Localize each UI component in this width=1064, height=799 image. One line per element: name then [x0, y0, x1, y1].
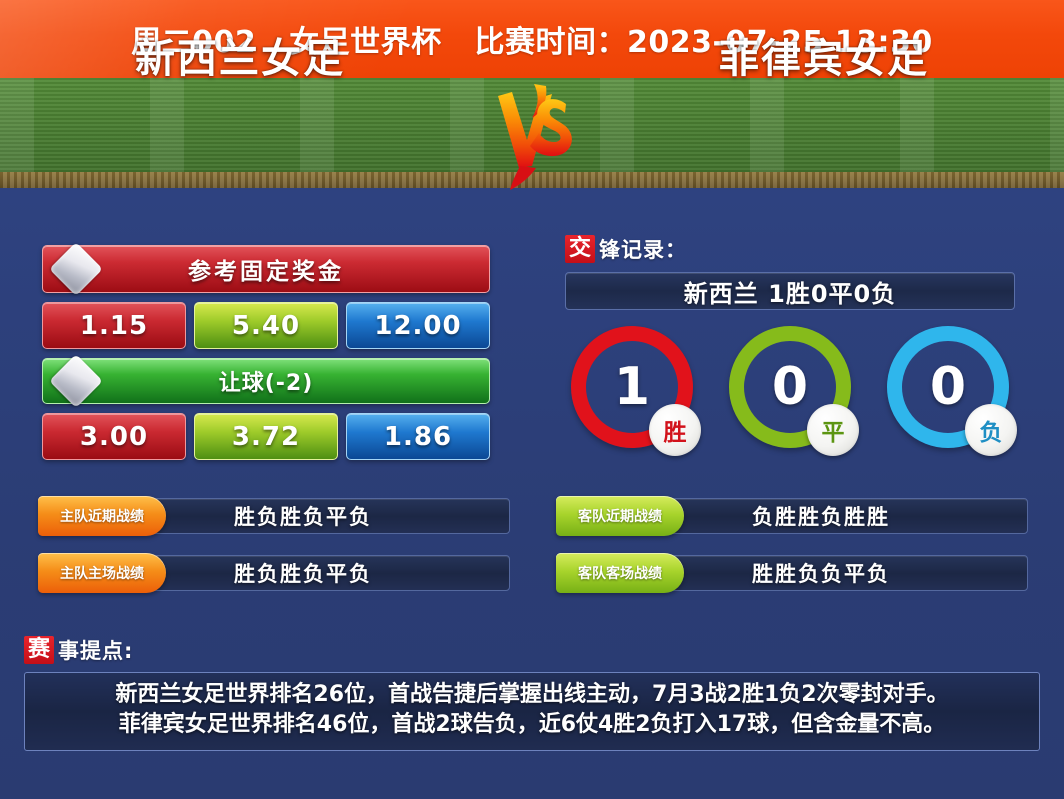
h2h-panel: 交 锋记录： 新西兰 1胜0平0负 1 胜 0 平 0 [565, 234, 1015, 448]
home-recent-tag-label: 主队近期战绩 [60, 506, 144, 526]
home-team-name: 新西兰女足 [0, 0, 480, 110]
form-row-away-venue: 胜胜负负平负 客队客场战绩 [556, 553, 1028, 593]
h2h-rings: 1 胜 0 平 0 负 [565, 326, 1015, 448]
away-recent-tag: 客队近期战绩 [556, 496, 684, 536]
away-recent-tag-label: 客队近期战绩 [578, 506, 662, 526]
handicap-prefix: 让球( [219, 371, 276, 396]
vs-icon [482, 78, 586, 193]
h2h-section-label: 交 锋记录： [565, 234, 1015, 264]
handicap-odd-draw[interactable]: 3.72 [194, 413, 338, 460]
fixed-odd-win[interactable]: 1.15 [42, 302, 186, 349]
analysis-section: 赛 事提点: 新西兰女足世界排名26位，首战告捷后掌握出线主动，7月3战2胜1负… [24, 634, 1040, 751]
ring-badge-label: 负 [965, 404, 1017, 456]
handicap-suffix: ) [302, 371, 313, 396]
handicap-bar: 让球(-2) [42, 358, 490, 404]
analysis-line-1: 新西兰女足世界排名26位，首战告捷后掌握出线主动，7月3战2胜1负2次零封对手。 [35, 680, 1029, 710]
fixed-odds-row: 1.15 5.40 12.00 [42, 302, 490, 349]
away-form-column: 负胜胜负胜胜 客队近期战绩 胜胜负负平负 客队客场战绩 [556, 496, 1028, 610]
analysis-label-badge: 赛 [24, 636, 54, 663]
analysis-line-2: 菲律宾女足世界排名46位，首战2球告负，近6仗4胜2负打入17球，但含金量不高。 [35, 710, 1029, 740]
odds-title-text: 参考固定奖金 [188, 252, 344, 286]
analysis-label-text: 事提点: [58, 635, 133, 665]
form-row-home-venue: 胜负胜负平负 主队主场战绩 [38, 553, 510, 593]
home-venue-tag-label: 主队主场战绩 [60, 563, 144, 583]
home-venue-value: 胜负胜负平负 [234, 558, 372, 588]
away-venue-tag: 客队客场战绩 [556, 553, 684, 593]
away-team-name: 菲律宾女足 [584, 0, 1064, 110]
form-row-home-recent: 胜负胜负平负 主队近期战绩 [38, 496, 510, 536]
away-recent-value: 负胜胜负胜胜 [752, 501, 890, 531]
analysis-text-box: 新西兰女足世界排名26位，首战告捷后掌握出线主动，7月3战2胜1负2次零封对手。… [24, 672, 1040, 751]
content-body: 参考固定奖金 1.15 5.40 12.00 让球(-2) 3.00 3.72 … [0, 188, 1064, 799]
h2h-ring-win: 1 胜 [571, 326, 693, 448]
h2h-ring-draw: 0 平 [729, 326, 851, 448]
home-recent-tag: 主队近期战绩 [38, 496, 166, 536]
h2h-summary-bar: 新西兰 1胜0平0负 [565, 272, 1015, 310]
match-preview-graphic: 周二002 女足世界杯 比赛时间：2023-07-25 13:30 新西兰女足 … [0, 0, 1064, 799]
handicap-value: -2 [276, 371, 302, 396]
away-venue-value: 胜胜负负平负 [752, 558, 890, 588]
h2h-label-text: 锋记录： [599, 234, 687, 264]
h2h-summary-text: 新西兰 1胜0平0负 [684, 274, 896, 309]
home-venue-tag: 主队主场战绩 [38, 553, 166, 593]
h2h-label-badge: 交 [565, 235, 595, 262]
handicap-label: 让球(-2) [219, 365, 314, 397]
handicap-odd-win[interactable]: 3.00 [42, 413, 186, 460]
odds-title-bar: 参考固定奖金 [42, 245, 490, 293]
fixed-odd-draw[interactable]: 5.40 [194, 302, 338, 349]
form-row-away-recent: 负胜胜负胜胜 客队近期战绩 [556, 496, 1028, 536]
diamond-icon [49, 354, 103, 408]
ring-badge-label: 胜 [649, 404, 701, 456]
ring-badge-label: 平 [807, 404, 859, 456]
diamond-icon [49, 242, 103, 296]
handicap-odds-row: 3.00 3.72 1.86 [42, 413, 490, 460]
h2h-ring-loss: 0 负 [887, 326, 1009, 448]
fixed-odd-loss[interactable]: 12.00 [346, 302, 490, 349]
home-form-column: 胜负胜负平负 主队近期战绩 胜负胜负平负 主队主场战绩 [38, 496, 510, 610]
analysis-section-label: 赛 事提点: [24, 634, 1040, 666]
home-recent-value: 胜负胜负平负 [234, 501, 372, 531]
away-venue-tag-label: 客队客场战绩 [578, 563, 662, 583]
handicap-odd-loss[interactable]: 1.86 [346, 413, 490, 460]
odds-panel: 参考固定奖金 1.15 5.40 12.00 让球(-2) 3.00 3.72 … [42, 245, 490, 460]
